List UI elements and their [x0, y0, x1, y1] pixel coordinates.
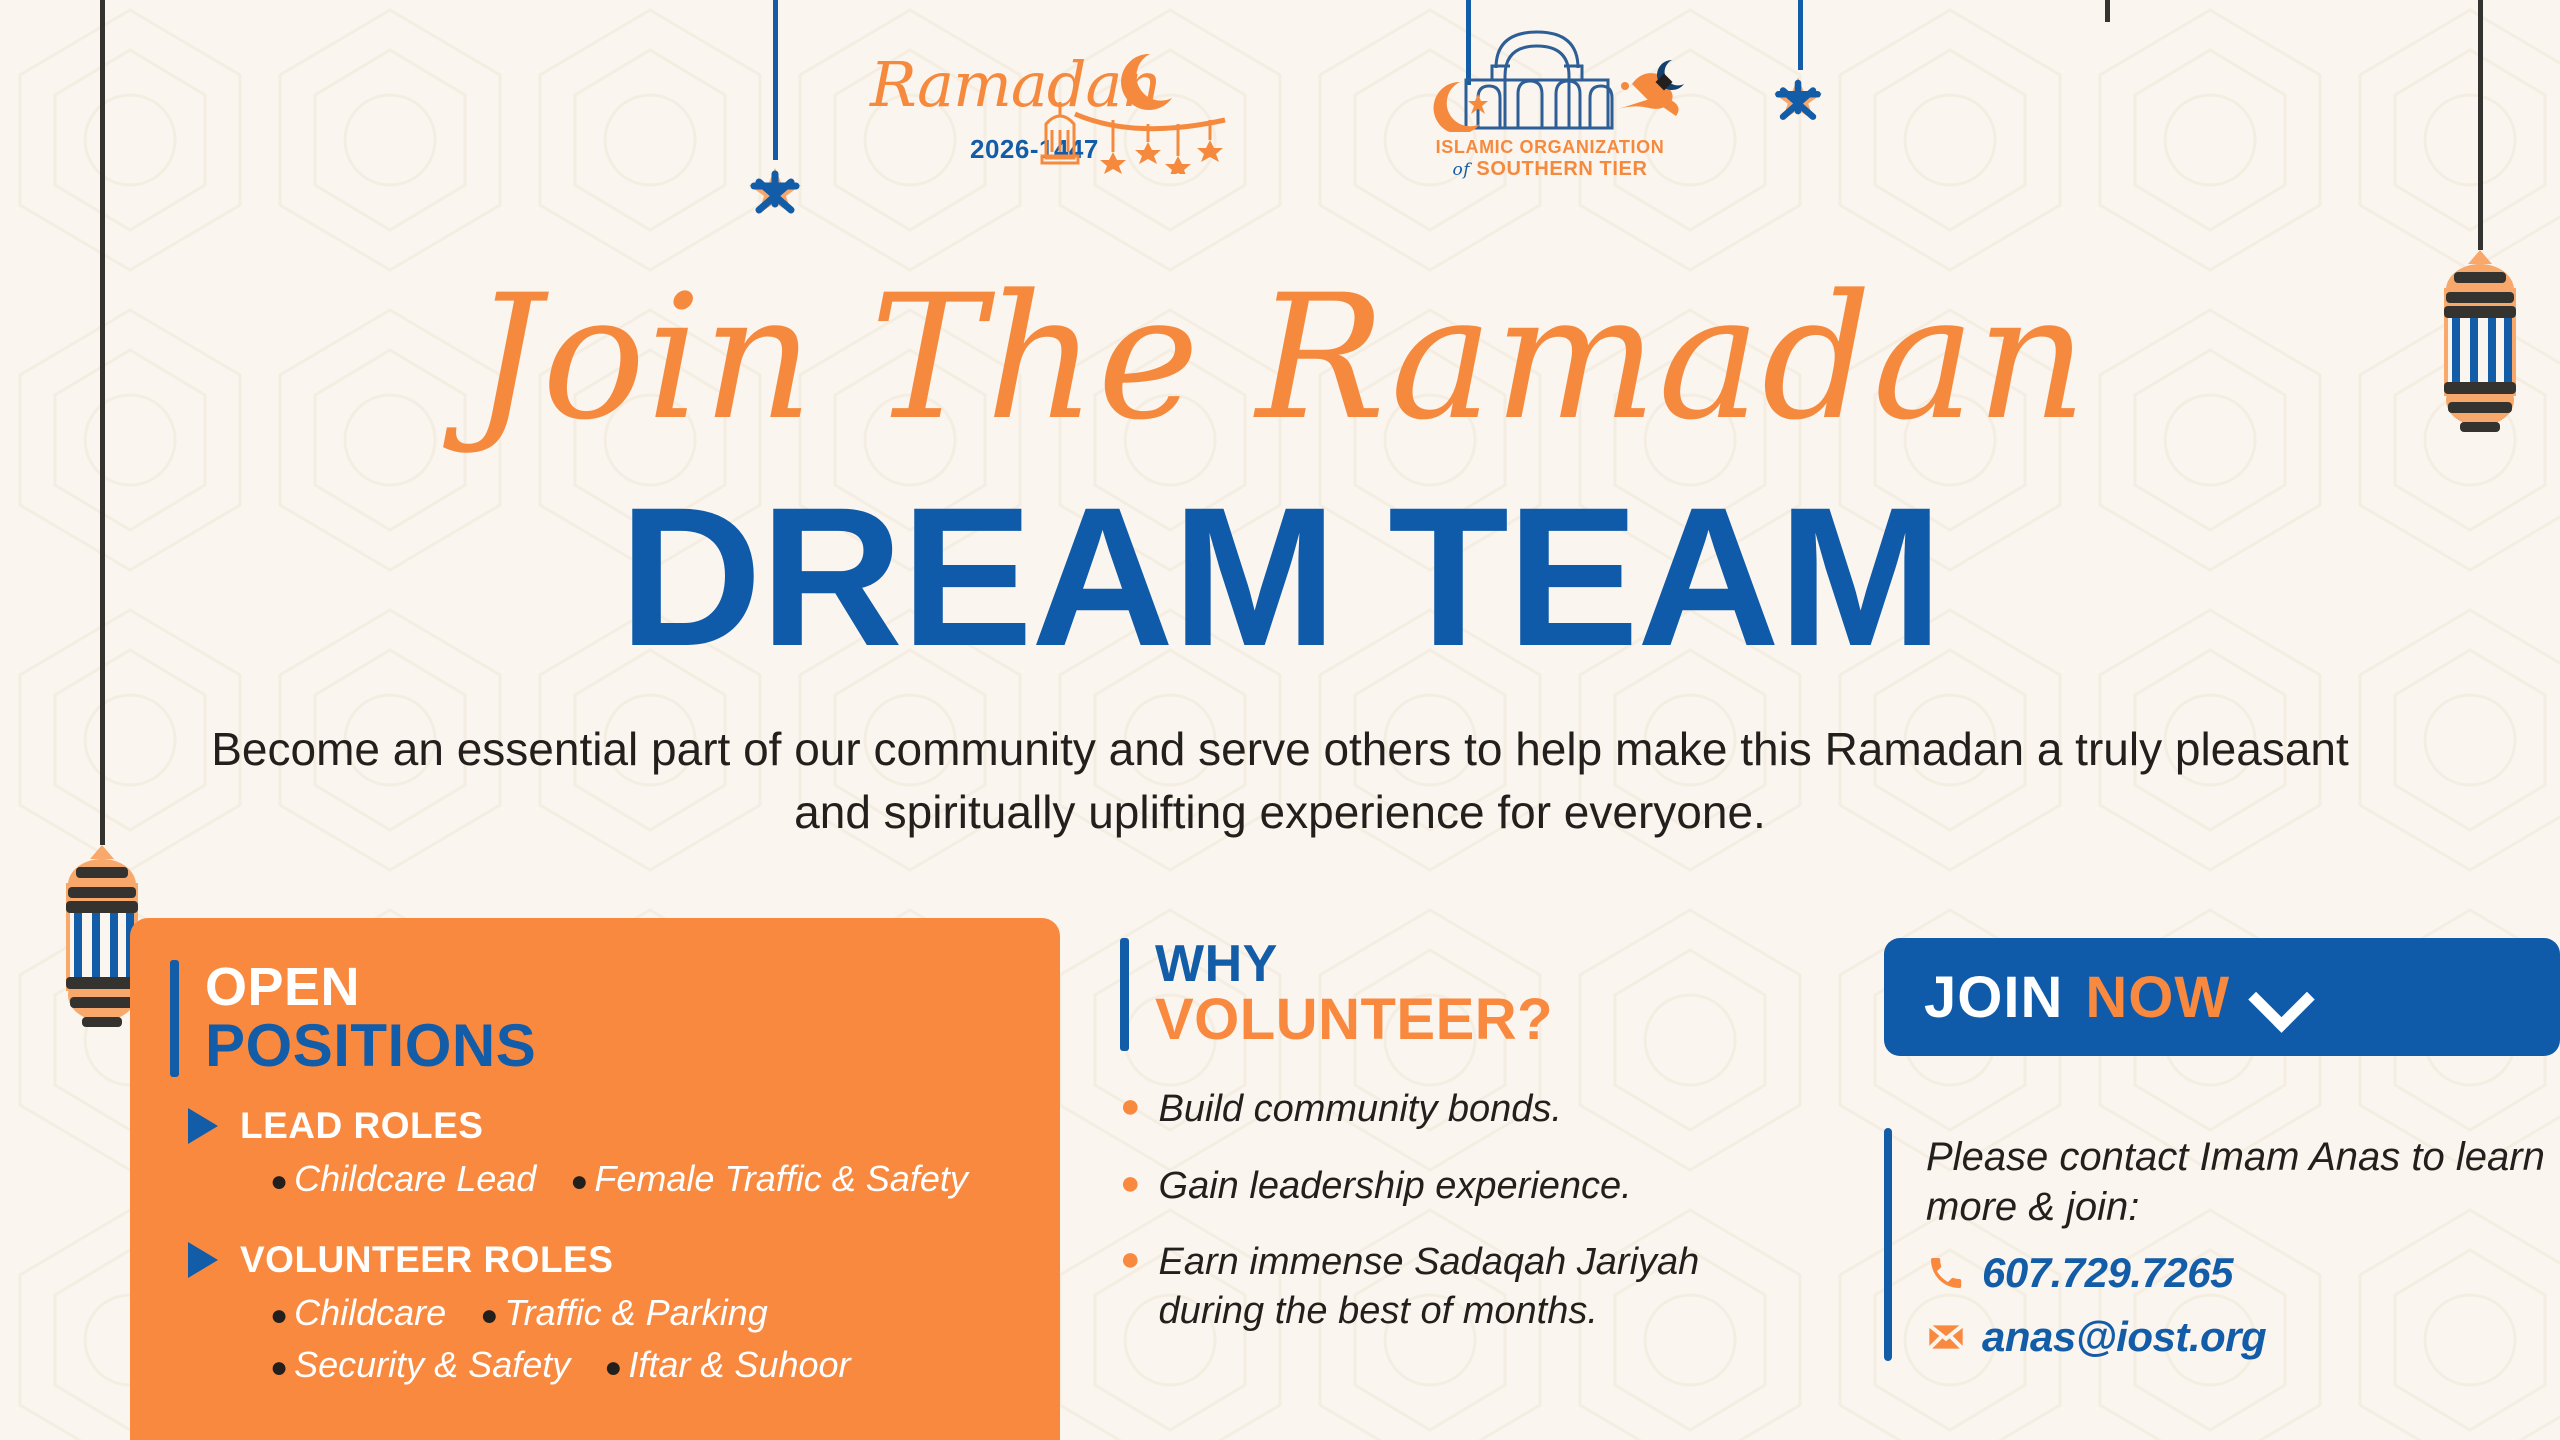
contact-block: Please contact Imam Anas to learn more &…: [1884, 1128, 2560, 1361]
role-item: ●Traffic & Parking: [480, 1287, 768, 1339]
role-group-lead: LEAD ROLES ●Childcare Lead ●Female Traff…: [270, 1105, 1060, 1205]
role-item: ●Security & Safety: [270, 1339, 570, 1391]
list-item: ● Earn immense Sadaqah Jariyah during th…: [1120, 1238, 1840, 1335]
logo-row: Ramadan 2026-1447: [0, 24, 2560, 179]
envelope-icon: [1926, 1317, 1966, 1357]
benefit-text: Gain leadership experience.: [1159, 1162, 1632, 1211]
role-item: ●Childcare: [270, 1287, 446, 1339]
bullet-dot-icon: ●: [1120, 1085, 1141, 1134]
open-positions-heading: OPEN POSITIONS: [170, 960, 1060, 1077]
iost-line1: ISLAMIC ORGANIZATION: [1400, 137, 1700, 158]
ramadan-logo: Ramadan 2026-1447: [860, 24, 1280, 174]
benefit-text: Build community bonds.: [1159, 1085, 1562, 1134]
role-items: ●Childcare Lead ●Female Traffic & Safety: [270, 1153, 1060, 1205]
benefit-text: Earn immense Sadaqah Jariyah during the …: [1159, 1238, 1799, 1335]
hanging-cord-c: [2104, 0, 2110, 22]
contact-phone-row[interactable]: 607.729.7265: [1926, 1249, 2560, 1297]
role-item: ●Childcare Lead: [270, 1153, 536, 1205]
iost-line2: of SOUTHERN TIER: [1400, 158, 1700, 181]
list-item: ● Gain leadership experience.: [1120, 1162, 1840, 1211]
role-group-volunteer: VOLUNTEER ROLES ●Childcare ●Traffic & Pa…: [270, 1239, 1060, 1391]
subtitle-text: Become an essential part of our communit…: [190, 718, 2370, 845]
role-item: ●Female Traffic & Safety: [570, 1153, 968, 1205]
cta-column: JOIN NOW Please contact Imam Anas to lea…: [1884, 938, 2560, 1361]
open-positions-heading-line2: POSITIONS: [205, 1014, 536, 1077]
contact-accent-bar: [1884, 1128, 1892, 1361]
why-volunteer-section: WHY VOLUNTEER? ● Build community bonds. …: [1120, 938, 1840, 1363]
role-item-label: Female Traffic & Safety: [594, 1158, 967, 1199]
open-positions-panel: OPEN POSITIONS LEAD ROLES ●Childcare Lea…: [130, 918, 1060, 1440]
role-item-label: Traffic & Parking: [504, 1292, 767, 1333]
role-item: ●Iftar & Suhoor: [604, 1339, 850, 1391]
triangle-bullet-icon: [188, 1242, 218, 1278]
bullet-dot-icon: ●: [1120, 1162, 1141, 1211]
heading-accent-bar: [170, 960, 179, 1077]
mosque-icon: [1400, 24, 1700, 132]
headline-script: Join The Ramadan: [0, 272, 2560, 444]
iost-logo: ISLAMIC ORGANIZATION of SOUTHERN TIER: [1400, 24, 1700, 179]
page-title: DREAM TEAM: [0, 478, 2560, 676]
contact-note: Please contact Imam Anas to learn more &…: [1926, 1132, 2560, 1233]
phone-number: 607.729.7265: [1982, 1249, 2233, 1297]
role-item-label: Iftar & Suhoor: [628, 1344, 850, 1385]
why-volunteer-heading-line1: WHY: [1155, 938, 1553, 990]
role-item-label: Security & Safety: [294, 1344, 570, 1385]
ramadan-logo-ornaments: [860, 24, 1280, 174]
list-item: ● Build community bonds.: [1120, 1085, 1840, 1134]
join-now-button[interactable]: JOIN NOW: [1884, 938, 2560, 1056]
role-title-row: VOLUNTEER ROLES: [188, 1239, 1060, 1281]
role-items: ●Childcare ●Traffic & Parking ●Security …: [270, 1287, 1030, 1391]
open-positions-heading-line1: OPEN: [205, 960, 536, 1014]
bullet-dot-icon: ●: [604, 1351, 622, 1384]
email-address: anas@iost.org: [1982, 1313, 2266, 1361]
bullet-dot-icon: ●: [270, 1299, 288, 1332]
iost-of: of: [1452, 160, 1470, 180]
bullet-dot-icon: ●: [570, 1165, 588, 1198]
role-title-row: LEAD ROLES: [188, 1105, 1060, 1147]
chevron-down-icon: [2252, 970, 2306, 1024]
role-item-label: Childcare: [294, 1292, 446, 1333]
join-label: JOIN: [1924, 964, 2063, 1031]
bullet-dot-icon: ●: [1120, 1238, 1141, 1335]
bullet-dot-icon: ●: [270, 1351, 288, 1384]
bullet-dot-icon: ●: [480, 1299, 498, 1332]
iost-southern-tier: SOUTHERN TIER: [1476, 158, 1647, 180]
contact-email-row[interactable]: anas@iost.org: [1926, 1313, 2560, 1361]
now-label: NOW: [2085, 964, 2230, 1031]
bullet-dot-icon: ●: [270, 1165, 288, 1198]
role-group-title: VOLUNTEER ROLES: [240, 1239, 613, 1281]
role-group-title: LEAD ROLES: [240, 1105, 483, 1147]
benefits-list: ● Build community bonds. ● Gain leadersh…: [1120, 1085, 1840, 1336]
why-volunteer-heading-line2: VOLUNTEER?: [1155, 990, 1553, 1051]
triangle-bullet-icon: [188, 1108, 218, 1144]
phone-icon: [1926, 1253, 1966, 1293]
role-item-label: Childcare Lead: [294, 1158, 536, 1199]
why-volunteer-heading: WHY VOLUNTEER?: [1120, 938, 1840, 1051]
heading-accent-bar: [1120, 938, 1129, 1051]
